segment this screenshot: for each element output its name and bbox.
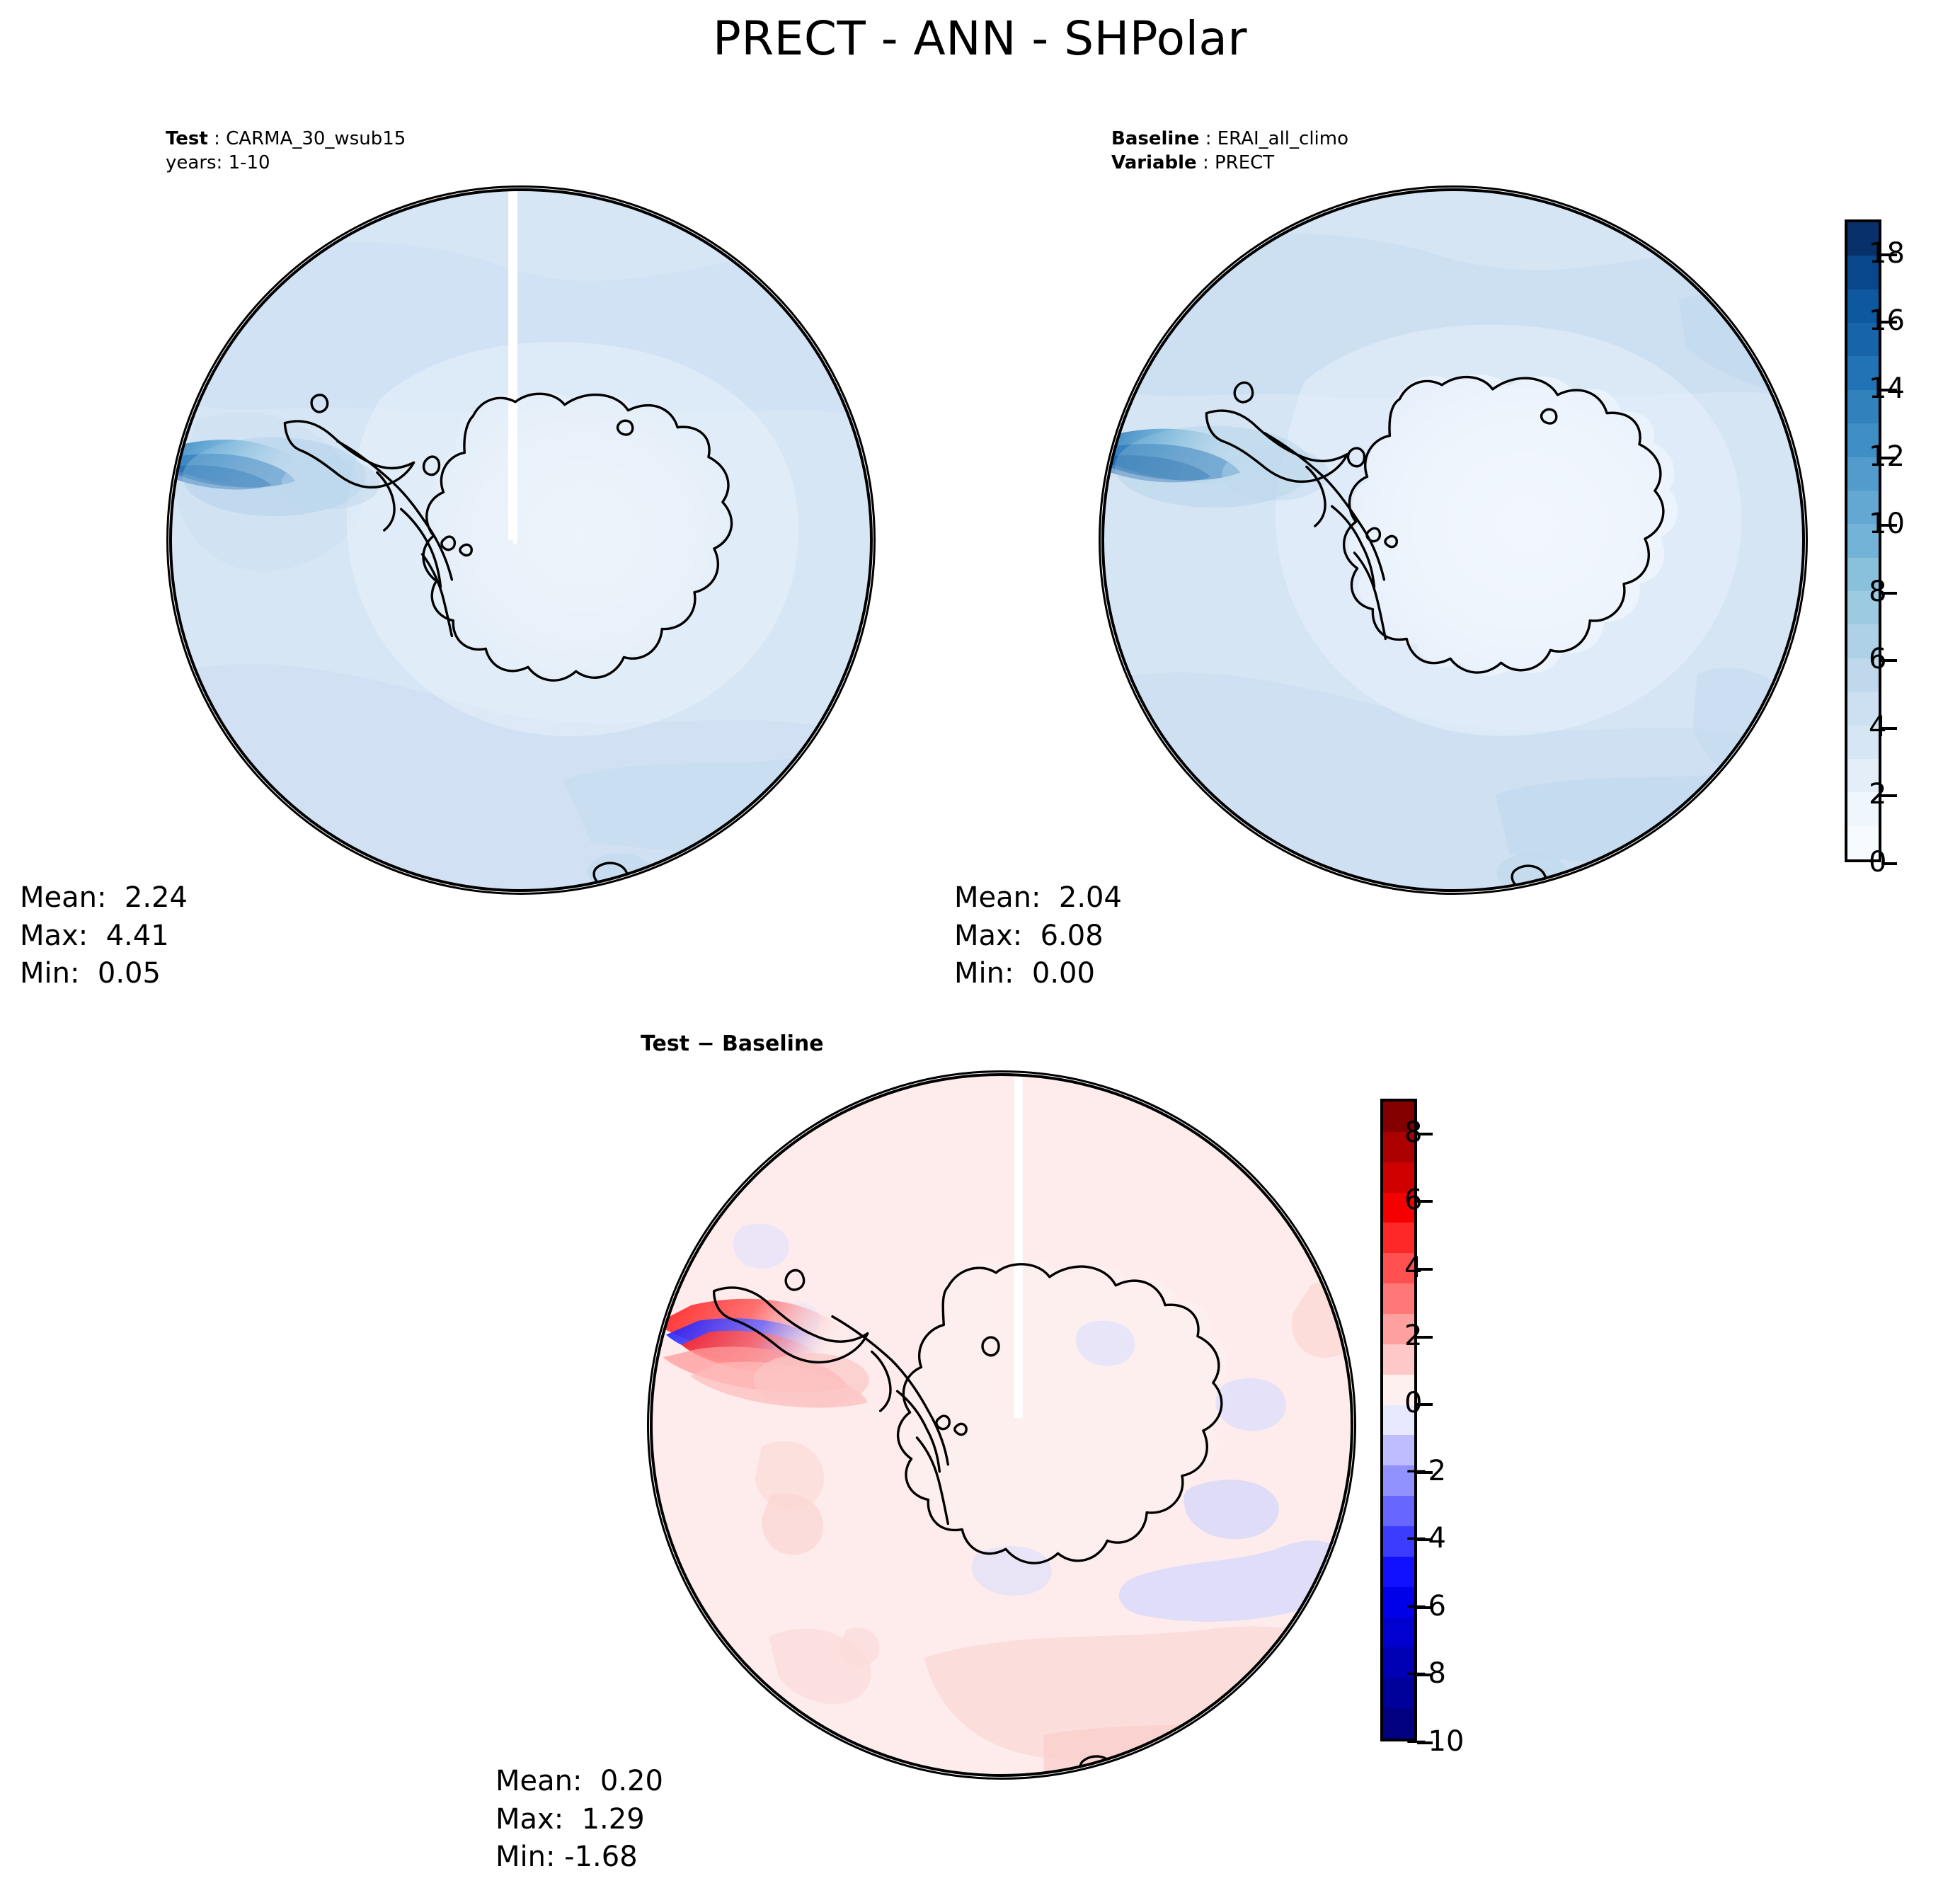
- diff-mean-value: 0.20: [600, 1765, 663, 1797]
- colorbar-tick-label: 12: [1869, 440, 1905, 473]
- colorbar-band-16: [1383, 1223, 1414, 1253]
- map-difference-field: [649, 1072, 1354, 1778]
- diff-min-label: Min:: [495, 1841, 564, 1873]
- colorbar-tick-label: 8: [1404, 1116, 1422, 1149]
- baseline-value: ERAI_all_climo: [1217, 128, 1348, 149]
- test-min-label: Min:: [20, 957, 98, 990]
- baseline-mean-value: 2.04: [1059, 881, 1122, 914]
- colorbar-band-5: [1383, 1557, 1414, 1587]
- main-colorbar: 024681012141618: [1845, 219, 1881, 862]
- colorbar-tick-label: 2: [1869, 778, 1886, 811]
- colorbar-band-14: [1383, 1283, 1414, 1314]
- baseline-max-label: Max:: [954, 920, 1041, 952]
- figure-canvas: PRECT - ANN - SHPolar Test : CARMA_30_ws…: [0, 0, 1960, 1888]
- test-value: CARMA_30_wsub15: [226, 128, 406, 149]
- map-test-panel: [166, 185, 876, 895]
- colorbar-tick-label: −2: [1404, 1455, 1446, 1487]
- baseline-min-value: 0.00: [1032, 957, 1095, 990]
- colorbar-tick-label: 6: [1404, 1184, 1422, 1216]
- colorbar-tick-label: 4: [1404, 1252, 1422, 1284]
- test-years: years: 1-10: [166, 152, 270, 173]
- colorbar-tick-label: −10: [1404, 1725, 1464, 1758]
- colorbar-tick-label: 10: [1869, 508, 1905, 540]
- colorbar-tick-label: 18: [1869, 237, 1905, 270]
- stats-test: Mean: 2.24Max: 4.41Min: 0.05: [20, 879, 188, 993]
- test-max-value: 4.41: [106, 920, 169, 952]
- colorbar-tick-label: 0: [1404, 1387, 1422, 1419]
- test-max-label: Max:: [20, 920, 106, 952]
- difference-subtitle: Test − Baseline: [641, 1031, 824, 1056]
- test-mean-label: Mean:: [20, 881, 125, 914]
- stats-baseline: Mean: 2.04Max: 6.08Min: 0.00: [954, 879, 1122, 993]
- colorbar-tick-label: 16: [1869, 304, 1905, 337]
- map-baseline-svg: [1101, 188, 1806, 893]
- variable-label: Variable: [1111, 152, 1197, 173]
- colorbar-tick-label: −4: [1404, 1522, 1446, 1555]
- test-label-separator: :: [208, 128, 226, 149]
- colorbar-tick-label: 4: [1869, 711, 1886, 743]
- baseline-label: Baseline: [1111, 128, 1199, 149]
- test-mean-value: 2.24: [125, 881, 188, 914]
- baseline-min-label: Min:: [954, 957, 1032, 990]
- test-label: Test: [166, 128, 208, 149]
- map-baseline-field: [1101, 188, 1806, 893]
- map-baseline-panel: [1099, 185, 1808, 895]
- variable-label-separator: :: [1197, 152, 1215, 173]
- map-difference-panel: [647, 1070, 1356, 1780]
- difference-colorbar: 86420−2−4−6−8−10: [1380, 1099, 1417, 1741]
- diff-max-value: 1.29: [582, 1803, 645, 1836]
- baseline-annotation: Baseline : ERAI_all_climoVariable : PREC…: [1111, 127, 1348, 176]
- diff-max-label: Max:: [495, 1803, 582, 1836]
- colorbar-tick-label: 0: [1869, 846, 1886, 879]
- diff-mean-label: Mean:: [495, 1765, 600, 1797]
- colorbar-tick-label: 14: [1869, 372, 1905, 405]
- map-test-svg: [168, 188, 873, 893]
- baseline-mean-label: Mean:: [954, 881, 1059, 914]
- diff-min-value: -1.68: [564, 1841, 638, 1873]
- test-min-value: 0.05: [98, 957, 161, 990]
- map-test-field: [168, 188, 873, 893]
- page-title: PRECT - ANN - SHPolar: [0, 11, 1960, 66]
- stats-difference: Mean: 0.20Max: 1.29Min: -1.68: [495, 1763, 663, 1877]
- colorbar-tick-label: 8: [1869, 576, 1886, 608]
- variable-value: PRECT: [1215, 152, 1274, 173]
- map-difference-svg: [649, 1072, 1354, 1778]
- test-annotation: Test : CARMA_30_wsub15years: 1-10: [166, 127, 406, 176]
- colorbar-tick-label: 6: [1869, 643, 1886, 675]
- colorbar-tick-label: 2: [1404, 1320, 1422, 1352]
- baseline-max-value: 6.08: [1041, 920, 1104, 952]
- colorbar-tick-label: −6: [1404, 1590, 1446, 1623]
- colorbar-tick-label: −8: [1404, 1657, 1446, 1690]
- baseline-label-separator: :: [1199, 128, 1217, 149]
